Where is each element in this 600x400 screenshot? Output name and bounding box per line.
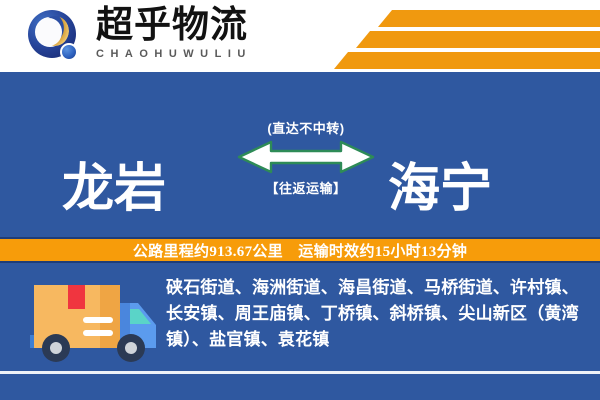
decorative-stripes [330, 0, 600, 72]
route-banner: 龙岩 (直达不中转) 【往返运输】 海宁 [0, 72, 600, 237]
distance-duration-bar: 公路里程约913.67公里 运输时效约15小时13分钟 [0, 237, 600, 263]
brand-name-cn: 超乎物流 [96, 6, 336, 46]
company-logo-icon [28, 10, 82, 64]
destination-city: 海宁 [388, 162, 492, 218]
route-arrow-block: (直达不中转) 【往返运输】 [235, 118, 377, 220]
brand-block: 超乎物流 CHAOHUWULIU [96, 6, 336, 60]
stripe-1 [378, 10, 600, 27]
logo-dot [60, 43, 78, 61]
stripe-2 [356, 31, 600, 48]
roundtrip-label: 【往返运输】 [235, 178, 377, 197]
distance-duration-text: 公路里程约913.67公里 运输时效约15小时13分钟 [133, 240, 467, 261]
road-divider-line [0, 371, 600, 374]
logistics-route-poster: 超乎物流 CHAOHUWULIU 龙岩 (直达不中转) 【往返运输】 海宁 公路… [0, 0, 600, 400]
double-headed-arrow-icon [237, 140, 375, 174]
logo-inner-circle [36, 18, 62, 46]
header-bar: 超乎物流 CHAOHUWULIU [0, 0, 600, 72]
coverage-districts-text: 硖石街道、海洲街道、海昌街道、马桥街道、许村镇、长安镇、周王庙镇、丁桥镇、斜桥镇… [166, 275, 590, 353]
delivery-truck-icon [26, 273, 162, 373]
coverage-section: 硖石街道、海洲街道、海昌街道、马桥街道、许村镇、长安镇、周王庙镇、丁桥镇、斜桥镇… [0, 263, 600, 400]
brand-name-en: CHAOHUWULIU [96, 48, 336, 60]
origin-city: 龙岩 [62, 162, 166, 218]
stripe-3 [334, 52, 600, 69]
direct-service-label: (直达不中转) [235, 118, 377, 137]
